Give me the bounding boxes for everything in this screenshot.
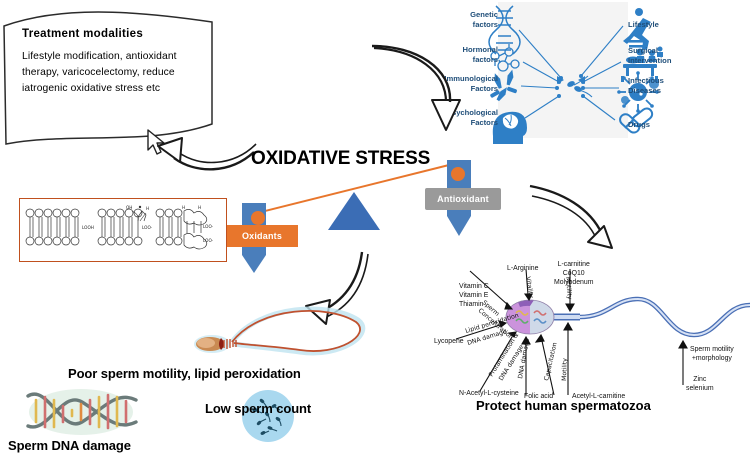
- svg-text:H: H: [182, 205, 185, 210]
- nutrient-label-l-carnitine: L-carnitineCoQ10Molybdenum: [554, 260, 593, 287]
- cause-label-lifestyle: Lifestyle: [628, 20, 688, 30]
- svg-text:LOO·: LOO·: [203, 224, 213, 229]
- svg-text:H: H: [198, 205, 201, 210]
- svg-text:LOO·: LOO·: [142, 225, 152, 230]
- svg-text:Motility: Motility: [561, 358, 569, 381]
- outcome-label-sperm-motility: Poor sperm motility, lipid peroxidation: [68, 366, 301, 381]
- oxidants-label: Oxidants: [226, 231, 298, 241]
- treatment-title: Treatment modalities: [22, 28, 202, 40]
- cause-label-genetic-factors: Geneticfactors: [452, 10, 498, 30]
- outcome-label-low-sperm-count: Low sperm count: [205, 401, 311, 416]
- cause-label-drugs: Drugs: [628, 120, 676, 130]
- lipid-bilayer-diagram: LOOH OH H LOO· H H LOO· LOO·: [22, 201, 222, 257]
- nutrient-label-l-arginine: L-Arginine: [507, 264, 538, 273]
- arrow-to-protect-spermatozoa: [528, 182, 628, 262]
- treatment-body: Lifestyle modification, antioxidant ther…: [22, 49, 202, 97]
- outcome-label-dna-damage: Sperm DNA damage: [8, 438, 131, 453]
- svg-text:LOO·: LOO·: [203, 238, 213, 243]
- antioxidant-label: Antioxidant: [425, 194, 501, 204]
- svg-text:LOOH: LOOH: [82, 225, 94, 230]
- nutrient-label-zinc-selenium: Zincselenium: [686, 375, 714, 393]
- arrow-to-treatment-modalities: [150, 130, 260, 182]
- effect-label-sperm-motility-morphology: Sperm motility+morphology: [690, 345, 734, 363]
- arrow-causes-to-oxidative-stress: [362, 44, 472, 144]
- protect-spermatozoa-caption: Protect human spermatozoa: [476, 398, 651, 413]
- svg-text:OH: OH: [126, 205, 132, 210]
- svg-text:H: H: [146, 206, 149, 211]
- dna-helix-illustration: [18, 386, 144, 438]
- cause-label-surgical-intervention: SurgicalIntervention: [628, 46, 690, 66]
- treatment-text-block: Treatment modalities Lifestyle modificat…: [22, 28, 202, 97]
- sperm-cell-illustration: [190, 302, 370, 366]
- low-sperm-count-illustration: [240, 388, 296, 444]
- cause-label-infectious-diseases: InfectiousDiseases: [628, 76, 688, 96]
- nutrient-label-n-acetyl-l-cysteine: N-Acetyl-L-cysteine: [459, 389, 519, 398]
- diagram-canvas: Treatment modalities Lifestyle modificat…: [0, 0, 756, 456]
- svg-text:Capacitation: Capacitation: [543, 342, 559, 382]
- balance-fulcrum: [326, 190, 382, 232]
- nutrient-label-vitamins: Vitamin CVitamin EThiamin: [459, 282, 489, 309]
- nutrient-label-lycopene: Lycopene: [434, 337, 464, 346]
